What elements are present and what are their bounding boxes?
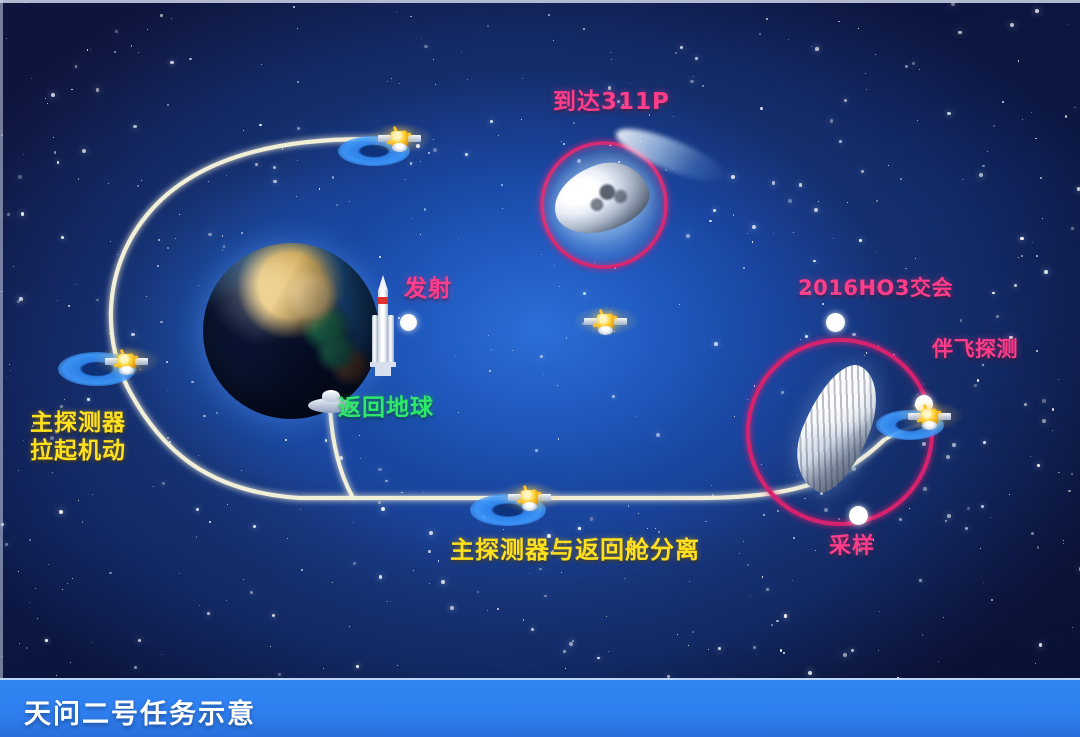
label-rendezvous-2016ho3: 2016HO3交会 [798,276,953,302]
rocket-nose-cone [378,275,388,291]
node-sampling [849,506,868,525]
label-separation: 主探测器与返回舱分离 [450,536,700,565]
trajectory-layer [0,0,1080,737]
probe-antenna-cruise [598,326,613,335]
probe-antenna-top [392,143,407,152]
probe-antenna-left [119,366,134,375]
label-arrive-311p: 到达311P [553,88,670,116]
mission-diagram-image: 到达311P 发射 2016HO3交会 伴飞探测 采样 返回地球 主探测器 拉起… [0,0,1080,737]
caption-bar: 天问二号任务示意 [0,678,1080,737]
probe-solar-panel-right-left [135,358,148,365]
label-sampling: 采样 [829,534,875,561]
probe-spacecraft-cruise [584,305,628,339]
node-launch-point [400,314,417,331]
rocket-launch-pad [375,367,391,376]
probe-spacecraft-asteroid [908,400,952,434]
probe-spacecraft-top [378,122,422,156]
probe-spacecraft-left [105,345,149,379]
probe-solar-panel-right-top [408,135,421,142]
probe-antenna-asteroid [922,421,937,430]
launch-rocket [370,275,396,377]
probe-solar-panel-right-sep [538,494,551,501]
label-accompany-survey: 伴飞探测 [932,337,1018,363]
label-return-earth: 返回地球 [338,394,434,422]
caption-title: 天问二号任务示意 [24,692,256,731]
probe-spacecraft-separation [508,481,552,515]
rocket-booster-left [372,315,378,362]
node-rendezvous [826,313,845,332]
rocket-red-band [378,297,388,304]
probe-solar-panel-right-ast [938,413,951,420]
rocket-booster-right [388,315,394,362]
label-main-probe-pullup: 主探测器 拉起机动 [30,409,126,465]
label-launch: 发射 [404,275,452,303]
probe-solar-panel-right-cruise [614,318,627,325]
probe-antenna-separation [522,502,537,511]
